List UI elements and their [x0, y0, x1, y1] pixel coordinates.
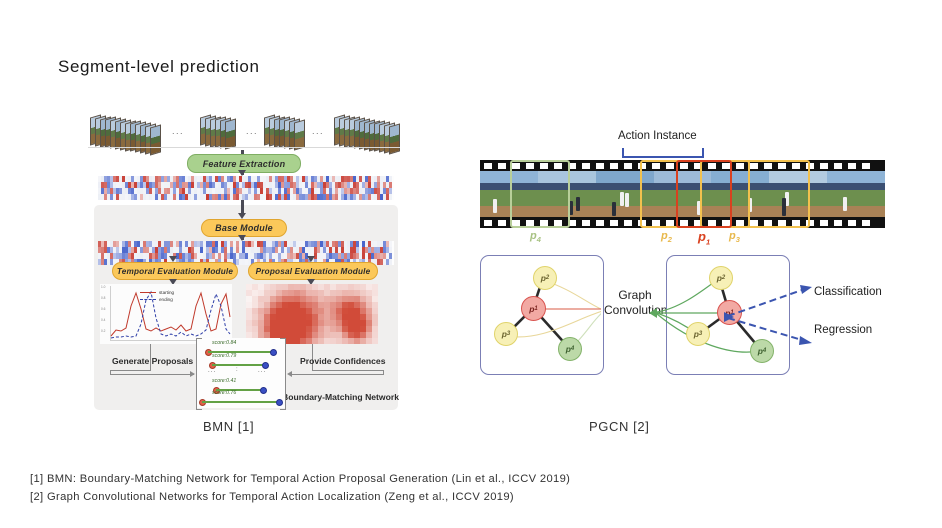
plabel-sub: 3	[736, 235, 740, 244]
node-label-sub: 3	[699, 331, 702, 337]
footnote-reference-2: [2] Graph Convolutional Networks for Tem…	[30, 491, 514, 503]
label-regression: Regression	[814, 324, 872, 336]
proposal-label-p3: p3	[729, 230, 740, 244]
frame-stack	[90, 112, 162, 146]
plabel-sub: 4	[537, 235, 541, 244]
proposal-score: score:0.41	[212, 378, 236, 384]
frame-stack	[200, 112, 238, 146]
frame-stack	[334, 112, 402, 146]
figure-bmn: ... ... ... Feature Extraction Base Modu…	[86, 110, 406, 410]
node-label-sub: 4	[571, 346, 574, 352]
output-arrows	[720, 260, 820, 370]
frame-stack	[264, 112, 304, 146]
film-frame	[827, 171, 885, 217]
proposal-box-p1	[676, 160, 732, 228]
label-provide-confidences: Provide Confidences	[300, 356, 384, 367]
legend-item-starting: starting	[140, 290, 174, 295]
page-title: Segment-level prediction	[58, 57, 260, 77]
proposal-label-p4: p4	[530, 230, 541, 244]
footnote-reference-1: [1] BMN: Boundary-Matching Network for T…	[30, 473, 570, 485]
chart-legend: starting ending	[140, 290, 174, 304]
plabel-base: p	[661, 230, 668, 242]
graph-node-p3: p3	[494, 322, 518, 346]
label-classification: Classification	[814, 286, 882, 298]
action-instance-bracket	[622, 148, 704, 158]
proposal-label-p1: p1	[698, 229, 710, 247]
graph-node-p4: p4	[558, 337, 582, 361]
proposal-span	[212, 364, 264, 366]
legend-item-ending: ending	[140, 297, 174, 302]
arrow-right-icon	[190, 371, 195, 377]
figure-pgcn: Action Instance p4 p2 p1 p3	[470, 130, 895, 395]
proposal-score: score:0.84	[212, 340, 236, 346]
connector	[110, 374, 194, 375]
proposal-score: score:0.76	[212, 390, 236, 396]
feature-sequence-strip	[98, 176, 394, 200]
frame-baseline	[88, 147, 400, 148]
slide-root: Segment-level prediction ... ... ... Fea…	[0, 0, 942, 528]
temporal-evaluation-chart: 1.0 0.8 0.6 0.4 0.2 starting ending	[100, 284, 232, 344]
proposal-ellipsis: ...	[258, 368, 267, 374]
label-action-instance: Action Instance	[618, 130, 697, 142]
module-proposal-evaluation: Proposal Evaluation Module	[248, 262, 378, 280]
module-temporal-evaluation: Temporal Evaluation Module	[112, 262, 238, 280]
end-dot-icon	[260, 387, 267, 394]
proposal-vertical-dots: :	[236, 367, 239, 373]
graph-node-p1: p1	[521, 296, 546, 321]
plabel-base: p	[530, 230, 537, 242]
legend-label-ending: ending	[159, 297, 173, 302]
label-boundary-matching-network: Boundary-Matching Network	[282, 392, 398, 403]
connector	[291, 374, 384, 375]
proposal-bar	[198, 397, 284, 406]
node-label-sub: 3	[507, 331, 510, 337]
proposal-ellipsis: ...	[208, 368, 217, 374]
proposal-label-p2: p2	[661, 230, 672, 244]
proposal-score: score:0.79	[212, 353, 236, 359]
label-generate-proposals: Generate Proposals	[112, 356, 186, 367]
proposal-list: score:0.84 score:0.79 ... : ... score:0.…	[196, 338, 286, 408]
caption-bmn: BMN [1]	[203, 419, 254, 434]
plabel-base: p	[729, 230, 736, 242]
arrow-left-icon	[287, 371, 292, 377]
connector	[312, 370, 384, 371]
node-label-sub: 1	[534, 306, 537, 312]
graph-node-p3: p3	[686, 322, 710, 346]
plabel-sub: 2	[668, 235, 672, 244]
video-frame-stacks: ... ... ...	[86, 110, 406, 150]
plabel-sub: 1	[706, 238, 710, 247]
legend-swatch-ending	[140, 299, 156, 300]
legend-swatch-starting	[140, 292, 156, 293]
legend-label-starting: starting	[159, 290, 174, 295]
frame-ellipsis-3: ...	[312, 126, 324, 136]
proposal-span	[202, 401, 278, 403]
proposal-box-p4	[510, 160, 570, 228]
proposal-evaluation-heatmap	[246, 284, 378, 344]
end-dot-icon	[276, 399, 283, 406]
frame-ellipsis-2: ...	[246, 126, 258, 136]
node-label-sub: 2	[546, 275, 549, 281]
connector	[110, 370, 151, 371]
frame-ellipsis-1: ...	[172, 126, 184, 136]
plabel-base: p	[698, 229, 706, 244]
graph-node-p2: p2	[533, 266, 557, 290]
end-dot-icon	[270, 349, 277, 356]
caption-pgcn: PGCN [2]	[589, 419, 649, 434]
graph-panel-input: p2 p1 p3 p4	[480, 255, 604, 375]
arrow-stem	[241, 200, 244, 214]
